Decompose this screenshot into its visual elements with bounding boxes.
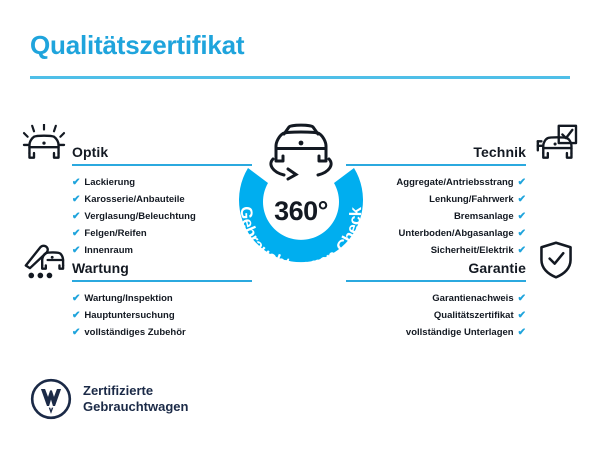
check-icon: ✔ <box>72 310 80 321</box>
checklist-wartung: ✔Wartung/Inspektion ✔Hauptuntersuchung ✔… <box>22 290 322 341</box>
list-item-label: Lenkung/Fahrwerk <box>429 194 513 205</box>
check-icon: ✔ <box>72 228 80 239</box>
list-item: Garantienachweis✔ <box>278 290 526 307</box>
list-item-label: Bremsanlage <box>454 211 514 222</box>
footer-brand: Zertifizierte Gebrauchtwagen <box>30 378 188 420</box>
certificate-page: Qualitätszertifikat <box>0 0 600 450</box>
check-icon: ✔ <box>72 293 80 304</box>
title-divider <box>30 76 570 79</box>
list-item-label: Aggregate/Antriebsstrang <box>396 177 513 188</box>
check-icon: ✔ <box>518 293 526 304</box>
list-item-label: vollständiges Zubehör <box>84 327 185 338</box>
check-icon: ✔ <box>518 177 526 188</box>
car-checkbox-icon <box>534 124 578 164</box>
list-item-label: Wartung/Inspektion <box>84 293 172 304</box>
section-title-optik: Optik <box>72 144 108 160</box>
check-icon: ✔ <box>518 211 526 222</box>
list-item-label: Hauptuntersuchung <box>84 310 174 321</box>
vw-logo-icon <box>30 378 72 420</box>
footer-line2: Gebrauchtwagen <box>83 399 188 415</box>
check-icon: ✔ <box>72 327 80 338</box>
page-title: Qualitätszertifikat <box>30 30 244 61</box>
list-item-label: Garantienachweis <box>432 293 513 304</box>
list-item-label: Felgen/Reifen <box>84 228 146 239</box>
footer-text: Zertifizierte Gebrauchtwagen <box>83 383 188 415</box>
list-item-label: Unterboden/Abgasanlage <box>399 228 514 239</box>
section-title-technik: Technik <box>473 144 526 160</box>
list-item-label: Verglasung/Beleuchtung <box>84 211 195 222</box>
check-icon: ✔ <box>518 310 526 321</box>
list-item: Qualitätszertifikat✔ <box>278 307 526 324</box>
check-icon: ✔ <box>72 194 80 205</box>
car-shine-icon <box>22 124 66 164</box>
check-icon: ✔ <box>518 194 526 205</box>
list-item-label: vollständige Unterlagen <box>406 327 514 338</box>
list-item: vollständige Unterlagen✔ <box>278 324 526 341</box>
check-icon: ✔ <box>72 211 80 222</box>
section-title-garantie: Garantie <box>468 260 526 276</box>
footer-line1: Zertifizierte <box>83 383 188 399</box>
check-icon: ✔ <box>72 177 80 188</box>
list-item-label: Karosserie/Anbauteile <box>84 194 184 205</box>
list-item-label: Lackierung <box>84 177 135 188</box>
check-icon: ✔ <box>518 327 526 338</box>
shield-check-icon <box>534 240 578 280</box>
check-icon: ✔ <box>518 228 526 239</box>
badge-center-text: 360° <box>218 196 384 227</box>
checklist-garantie: Garantienachweis✔ Qualitätszertifikat✔ v… <box>278 290 578 341</box>
badge-360-check: Gebrauchtwagen-Check 360° <box>218 108 384 290</box>
section-title-wartung: Wartung <box>72 260 129 276</box>
list-item-label: Qualitätszertifikat <box>434 310 514 321</box>
wrench-car-icon <box>22 240 66 280</box>
